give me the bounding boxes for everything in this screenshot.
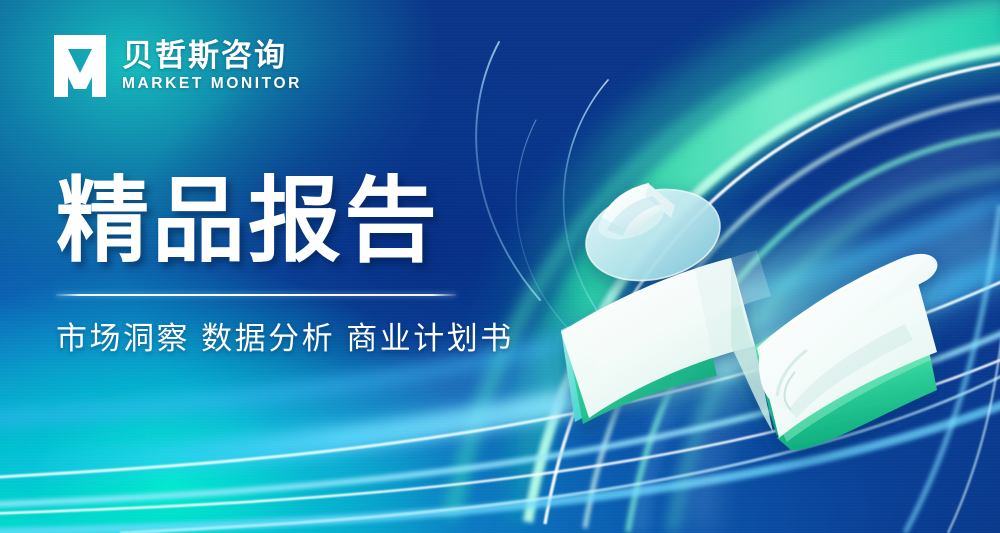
- report-cover-banner: 贝哲斯咨询 MARKET MONITOR 精品报告 市场洞察 数据分析 商业计划…: [0, 0, 1000, 533]
- headline-divider: [56, 294, 456, 296]
- brand-text-block: 贝哲斯咨询 MARKET MONITOR: [122, 40, 302, 91]
- headline-block: 精品报告 市场洞察 数据分析 商业计划书: [56, 174, 526, 357]
- page-title: 精品报告: [56, 174, 526, 269]
- brand-logo: 贝哲斯咨询 MARKET MONITOR: [52, 33, 302, 99]
- brand-name-cn: 贝哲斯咨询: [122, 40, 302, 73]
- page-subtitle: 市场洞察 数据分析 商业计划书: [56, 320, 526, 357]
- market-monitor-m-monogram-icon: [52, 33, 108, 99]
- open-book-illustration: [545, 160, 945, 450]
- brand-name-en: MARKET MONITOR: [122, 76, 302, 92]
